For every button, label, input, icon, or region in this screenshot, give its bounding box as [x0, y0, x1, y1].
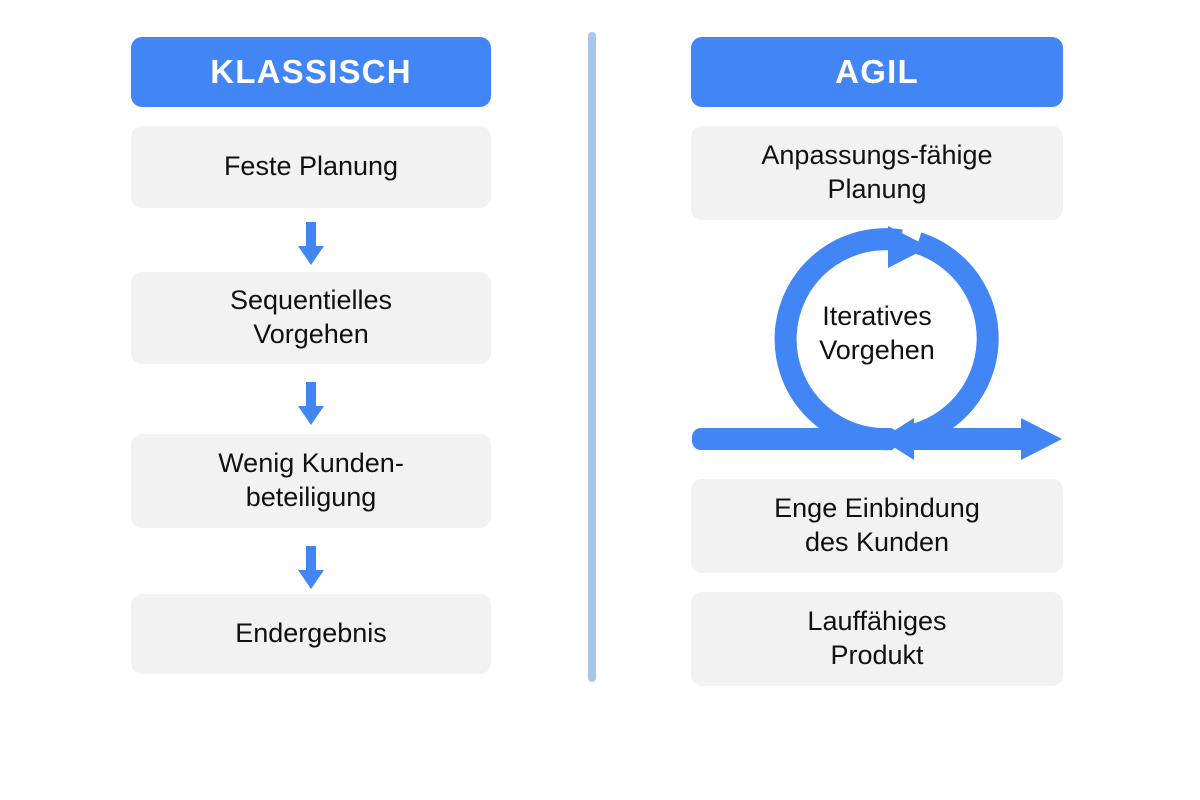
- classic-step-box-1[interactable]: Feste Planung: [131, 126, 491, 208]
- classic-header-label: KLASSISCH: [210, 53, 412, 91]
- classic-step-label-4: Endergebnis: [235, 617, 387, 651]
- circular-arrow-cycle-icon: [690, 224, 1064, 472]
- agile-step-box-2[interactable]: Enge Einbindung des Kunden: [691, 479, 1063, 573]
- agile-step-label-2: Enge Einbindung des Kunden: [774, 492, 980, 560]
- classic-step-label-2: Sequentielles Vorgehen: [230, 284, 392, 352]
- classic-step-label-1: Feste Planung: [224, 150, 398, 184]
- classic-step-box-2[interactable]: Sequentielles Vorgehen: [131, 272, 491, 364]
- classic-column: KLASSISCH Feste Planung Sequentielles Vo…: [131, 0, 491, 800]
- classic-header-pill[interactable]: KLASSISCH: [131, 37, 491, 107]
- diagram-canvas: KLASSISCH Feste Planung Sequentielles Vo…: [0, 0, 1200, 800]
- classic-step-box-3[interactable]: Wenig Kunden- beteiligung: [131, 434, 491, 528]
- agile-step-label-3: Lauffähiges Produkt: [807, 605, 946, 673]
- column-divider: [588, 32, 596, 682]
- agile-column: AGIL Anpassungs-fähige Planung: [691, 0, 1063, 800]
- agile-step-box-1[interactable]: Anpassungs-fähige Planung: [691, 126, 1063, 220]
- arrow-down-icon: [293, 382, 329, 426]
- arrow-down-icon: [293, 546, 329, 590]
- agile-step-box-3[interactable]: Lauffähiges Produkt: [691, 592, 1063, 686]
- arrow-down-icon: [293, 222, 329, 266]
- classic-step-label-3: Wenig Kunden- beteiligung: [218, 447, 404, 515]
- agile-header-pill[interactable]: AGIL: [691, 37, 1063, 107]
- agile-header-label: AGIL: [835, 53, 919, 91]
- agile-step-label-1: Anpassungs-fähige Planung: [761, 139, 992, 207]
- classic-step-box-4[interactable]: Endergebnis: [131, 594, 491, 674]
